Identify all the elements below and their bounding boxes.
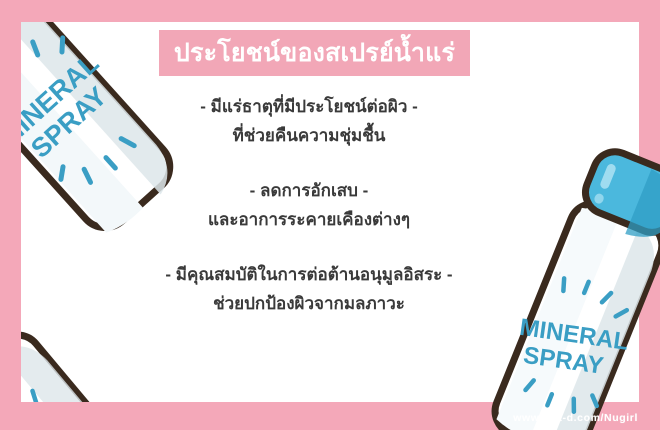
benefit-line: และอาการระคายเคืองต่างๆ [0,205,618,234]
poster-root: MINERAL SPRAY [0,0,660,430]
benefit-paragraph-3: - มีคุณสมบัติในการต่อต้านอนุมูลอิสระ - ช… [0,260,618,318]
benefit-paragraph-1: - มีแร่ธาตุที่มีประโยชน์ต่อผิว - ที่ช่วย… [0,92,618,150]
benefit-paragraph-2: - ลดการอักเสบ - และอาการระคายเคืองต่างๆ [0,176,618,234]
benefit-line: - ลดการอักเสบ - [0,176,618,205]
benefit-line: ที่ช่วยคืนความชุ่มชื้น [0,121,618,150]
benefit-line: - มีคุณสมบัติในการต่อต้านอนุมูลอิสระ - [0,260,618,289]
benefit-line: ช่วยปกป้องผิวจากมลภาวะ [0,289,618,318]
title-band: ประโยชน์ของสเปรย์น้ำแร่ [159,30,470,76]
footer-website-url: www.dek-d.com/Nugirl [513,412,638,424]
page-title: ประโยชน์ของสเปรย์น้ำแร่ [174,41,455,66]
benefits-text-block: - มีแร่ธาตุที่มีประโยชน์ต่อผิว - ที่ช่วย… [0,92,618,318]
bottle-label-line1: MINERAL [21,393,95,402]
benefit-line: - มีแร่ธาตุที่มีประโยชน์ต่อผิว - [0,92,618,121]
